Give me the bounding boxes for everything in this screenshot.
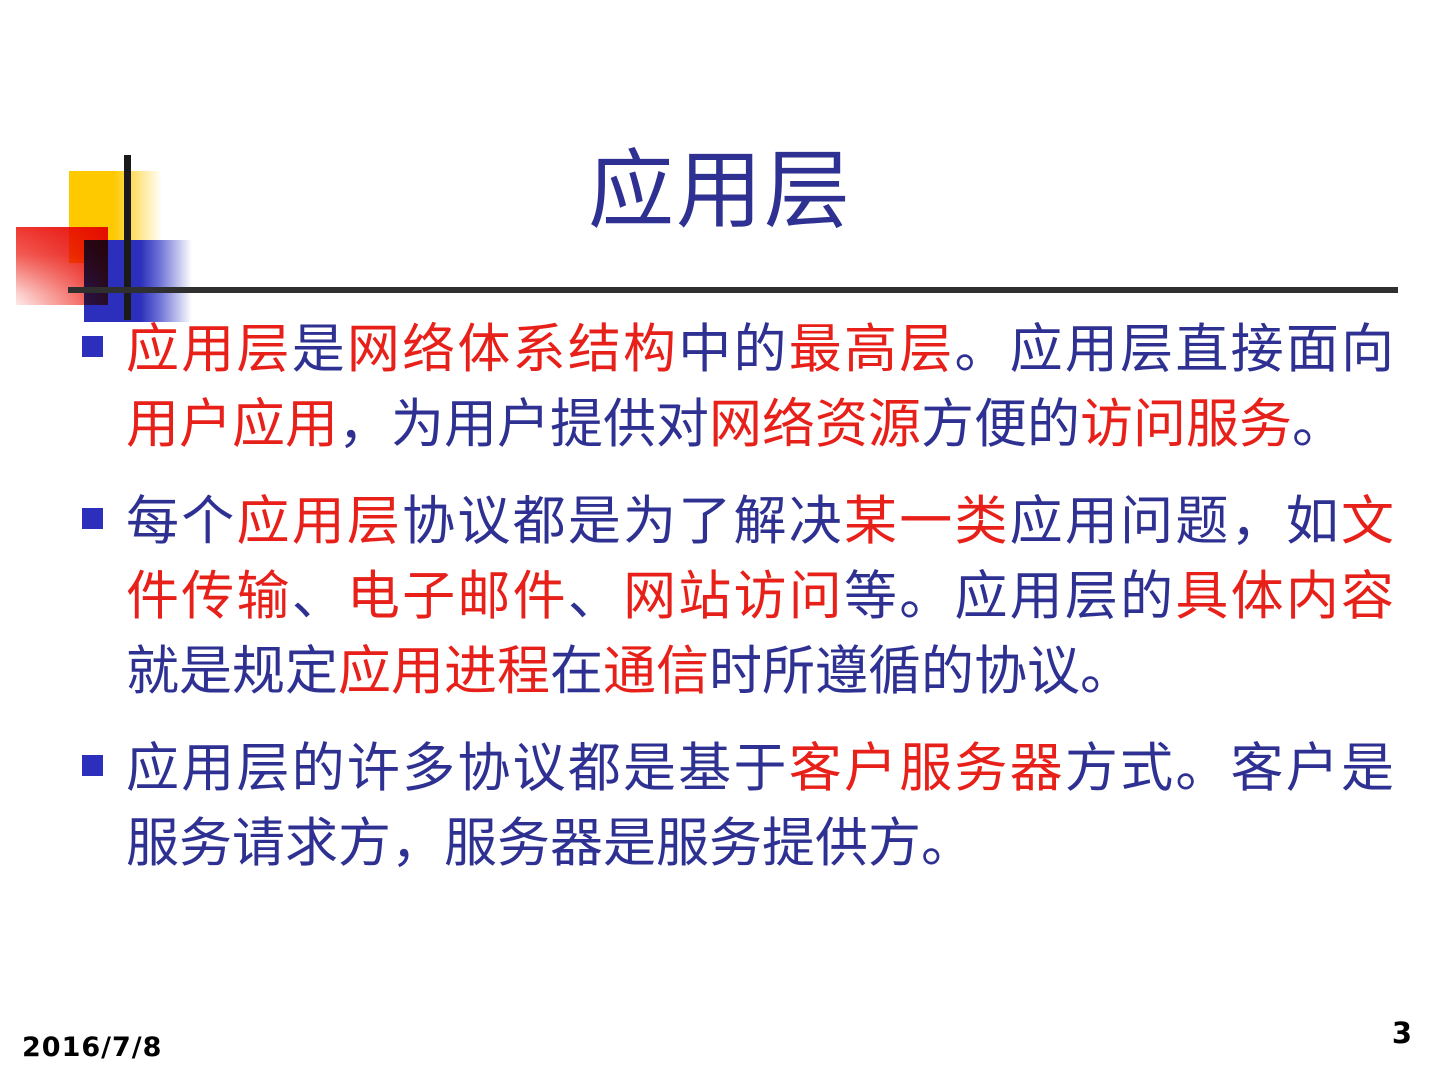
square-bullet-icon	[82, 336, 103, 357]
footer-page-number: 3	[1392, 1016, 1412, 1050]
text-run: 网络资源	[709, 394, 921, 455]
text-run: 、	[568, 566, 623, 627]
text-run: 。应用层直接面向	[954, 319, 1394, 380]
bullet-text: 应用层是网络体系结构中的最高层。应用层直接面向用户应用，为用户提供对网络资源方便…	[126, 312, 1394, 462]
bullet-list: 应用层是网络体系结构中的最高层。应用层直接面向用户应用，为用户提供对网络资源方便…	[64, 312, 1394, 903]
text-run: 客户服务器	[789, 738, 1065, 799]
text-run: 中的	[678, 319, 788, 380]
text-run: 访问服务	[1080, 394, 1292, 455]
list-item: 每个应用层协议都是为了解决某一类应用问题，如文件传输、电子邮件、网站访问等。应用…	[64, 484, 1394, 709]
list-item: 应用层是网络体系结构中的最高层。应用层直接面向用户应用，为用户提供对网络资源方便…	[64, 312, 1394, 462]
text-run: 协议都是为了解决	[402, 491, 844, 552]
bullet-text: 应用层的许多协议都是基于客户服务器方式。客户是服务请求方，服务器是服务提供方。	[126, 731, 1394, 881]
text-run: 通信	[603, 641, 709, 702]
text-run: 在	[550, 641, 603, 702]
red-square-icon	[16, 227, 108, 305]
text-run: 就是规定	[126, 641, 338, 702]
list-item: 应用层的许多协议都是基于客户服务器方式。客户是服务请求方，服务器是服务提供方。	[64, 731, 1394, 881]
square-bullet-icon	[82, 755, 103, 776]
square-bullet-icon	[82, 508, 103, 529]
text-run: 时所遵循的协议。	[709, 641, 1133, 702]
footer-date: 2016/7/8	[22, 1032, 162, 1063]
text-run: 应用进程	[338, 641, 550, 702]
slide-canvas: 应用层 应用层是网络体系结构中的最高层。应用层直接面向用户应用，为用户提供对网络…	[0, 0, 1440, 1080]
text-run: 某一类	[844, 491, 1010, 552]
text-run: 用户应用	[126, 394, 338, 455]
text-run: 是	[292, 319, 347, 380]
text-run: 网络体系结构	[347, 319, 678, 380]
horizontal-rule	[68, 287, 1398, 293]
text-run: 电子邮件	[347, 566, 568, 627]
text-run: 网站访问	[623, 566, 844, 627]
text-run: 、	[292, 566, 347, 627]
text-run: 每个	[126, 491, 236, 552]
text-run: 。	[1292, 394, 1345, 455]
text-run: 具体内容	[1175, 566, 1394, 627]
text-run: 应用问题，如	[1010, 491, 1341, 552]
page-title: 应用层	[0, 148, 1440, 234]
text-run: 应用层	[126, 319, 292, 380]
text-run: 等。应用层的	[844, 566, 1175, 627]
text-run: ，为用户提供对	[338, 394, 709, 455]
text-run: 应用层的许多协议都是基于	[126, 738, 789, 799]
text-run: 方便的	[921, 394, 1080, 455]
bullet-text: 每个应用层协议都是为了解决某一类应用问题，如文件传输、电子邮件、网站访问等。应用…	[126, 484, 1394, 709]
text-run: 应用层	[236, 491, 402, 552]
text-run: 最高层	[789, 319, 955, 380]
